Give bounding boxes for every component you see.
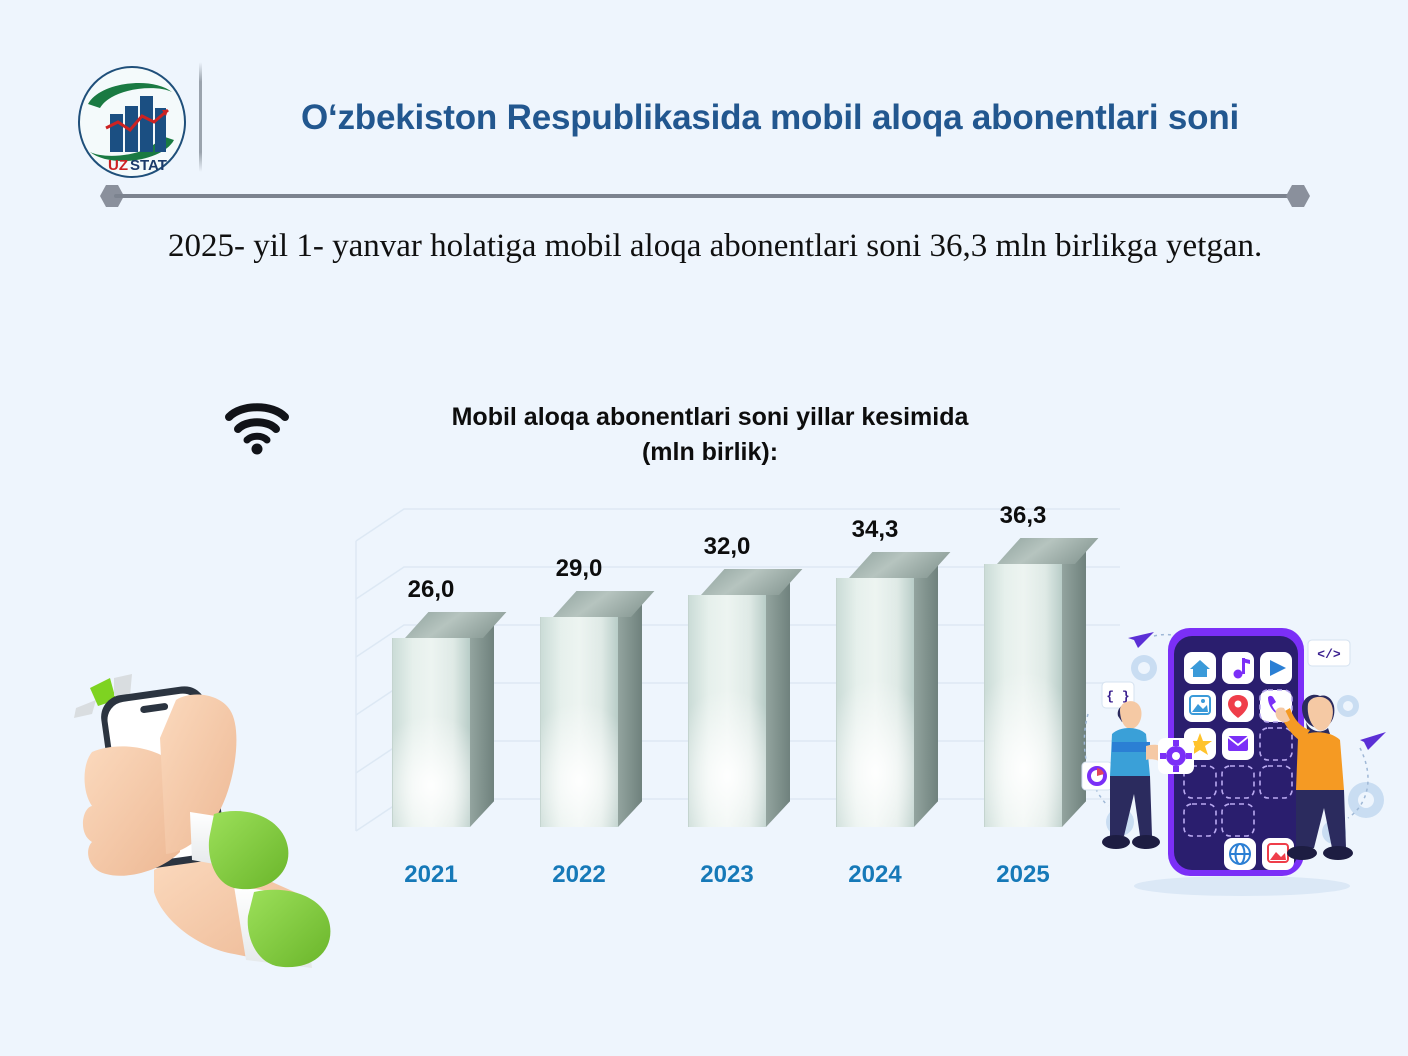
- hand-holding-phone-illustration: [58, 648, 358, 974]
- bar-side-face: [766, 569, 790, 827]
- infographic-page: UZ STAT O‘zbekiston Respublikasida mobil…: [0, 0, 1408, 1056]
- bar-category-label: 2022: [519, 861, 639, 889]
- svg-text:{ }: { }: [1106, 689, 1129, 704]
- bar-front-face: [392, 638, 470, 827]
- bar-value-label: 29,0: [519, 555, 639, 583]
- chart-subtitle-line2: (mln birlik):: [330, 435, 1090, 470]
- bar-value-label: 26,0: [371, 576, 491, 604]
- bar-column: [392, 638, 494, 827]
- bar-front-face: [540, 617, 618, 827]
- header: UZ STAT O‘zbekiston Respublikasida mobil…: [0, 0, 1408, 200]
- ground-shadow: [1134, 876, 1350, 896]
- bar-value-label: 34,3: [815, 516, 935, 544]
- bar-side-face: [470, 612, 494, 827]
- logo-text-uz: UZ: [108, 157, 128, 174]
- bar-front-face: [984, 564, 1062, 827]
- bar-3d-body: [540, 617, 642, 827]
- app-development-illustration: </> { }: [1076, 610, 1408, 920]
- page-title: O‘zbekiston Respublikasida mobil aloqa a…: [230, 96, 1310, 141]
- logo-graphic: UZ STAT: [78, 66, 186, 178]
- uzstat-logo: UZ STAT: [78, 66, 186, 178]
- wifi-icon: [224, 396, 290, 458]
- rule-line: [114, 194, 1296, 198]
- bar-chart: 26,0202129,0202232,0202334,3202436,32025: [330, 495, 1120, 895]
- hexagon-marker-right: [1286, 185, 1310, 207]
- chart-subtitle-line1: Mobil aloqa abonentlari soni yillar kesi…: [330, 400, 1090, 435]
- bar-front-face: [688, 595, 766, 827]
- bar-front-face: [836, 578, 914, 827]
- bar-column: [688, 595, 790, 827]
- bar-column: [836, 578, 938, 827]
- body-paragraph: 2025- yil 1- yanvar holatiga mobil aloqa…: [96, 222, 1326, 271]
- bar-side-face: [914, 552, 938, 827]
- bar-3d-body: [688, 595, 790, 827]
- mail-icon: [1228, 736, 1248, 751]
- bar-side-face: [618, 591, 642, 827]
- header-vertical-divider: [199, 62, 202, 172]
- bar-category-label: 2023: [667, 861, 787, 889]
- header-rule: [100, 185, 1310, 207]
- chart-subtitle: Mobil aloqa abonentlari soni yillar kesi…: [330, 400, 1090, 469]
- bar-column: [540, 617, 642, 827]
- bar-3d-body: [392, 638, 494, 827]
- bar-column: [984, 564, 1086, 827]
- bar-category-label: 2024: [815, 861, 935, 889]
- bar-3d-body: [984, 564, 1086, 827]
- bar-value-label: 36,3: [963, 502, 1083, 530]
- bar-value-label: 32,0: [667, 533, 787, 561]
- bar-category-label: 2025: [963, 861, 1083, 889]
- bar-category-label: 2021: [371, 861, 491, 889]
- logo-text-stat: STAT: [130, 157, 167, 174]
- svg-text:</>: </>: [1317, 647, 1341, 662]
- bar-3d-body: [836, 578, 938, 827]
